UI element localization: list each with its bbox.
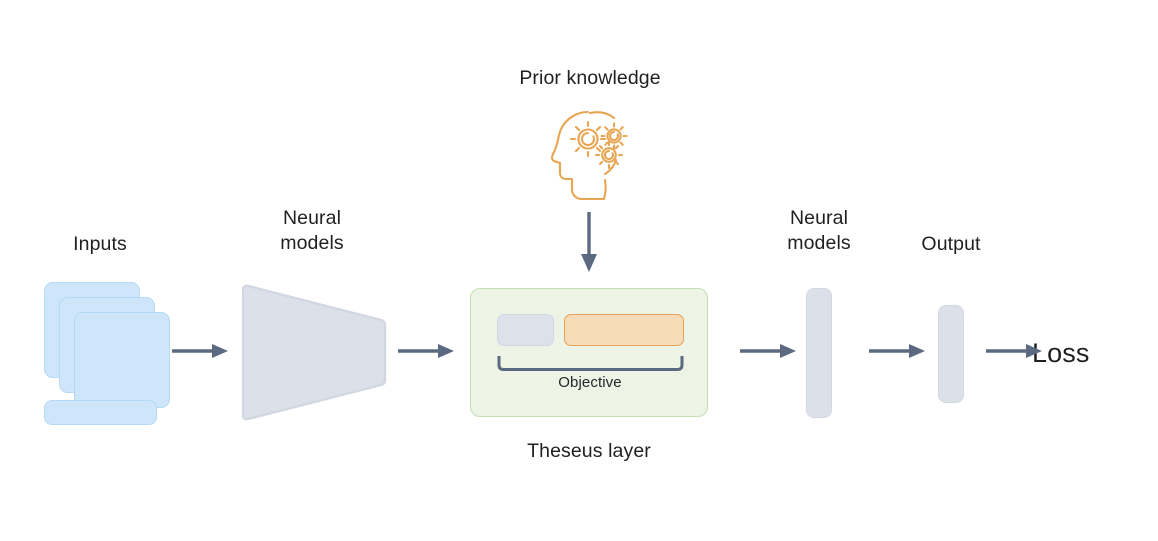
- arrow-right-icon: [740, 341, 796, 361]
- arrow-right-icon: [869, 341, 925, 361]
- prior-knowledge-label: Prior knowledge: [490, 66, 690, 91]
- output-label: Output: [871, 232, 1031, 257]
- under-bracket-icon: [497, 356, 684, 372]
- arrow-right-icon: [986, 341, 1042, 361]
- input-bar: [44, 400, 157, 425]
- neural-models-left-label: Neural models: [232, 206, 392, 256]
- neural-model-bar: [806, 288, 832, 418]
- objective-label: Objective: [471, 373, 709, 392]
- arrow-right-icon: [398, 341, 454, 361]
- head-with-gears-icon: [548, 104, 632, 208]
- diagram-canvas: Prior knowledge: [0, 0, 1158, 541]
- theseus-layer-label: Theseus layer: [489, 439, 689, 464]
- encoder-trapezoid: [240, 280, 390, 425]
- cost-function-box: [497, 314, 554, 346]
- output-bar: [938, 305, 964, 403]
- arrow-right-icon: [172, 341, 228, 361]
- arrow-down-icon: [576, 212, 602, 272]
- optimizer-box: [564, 314, 684, 346]
- inputs-label: Inputs: [20, 232, 180, 257]
- input-card: [74, 312, 170, 408]
- loss-label: Loss: [1032, 338, 1152, 369]
- theseus-layer-container: Objective: [470, 288, 708, 417]
